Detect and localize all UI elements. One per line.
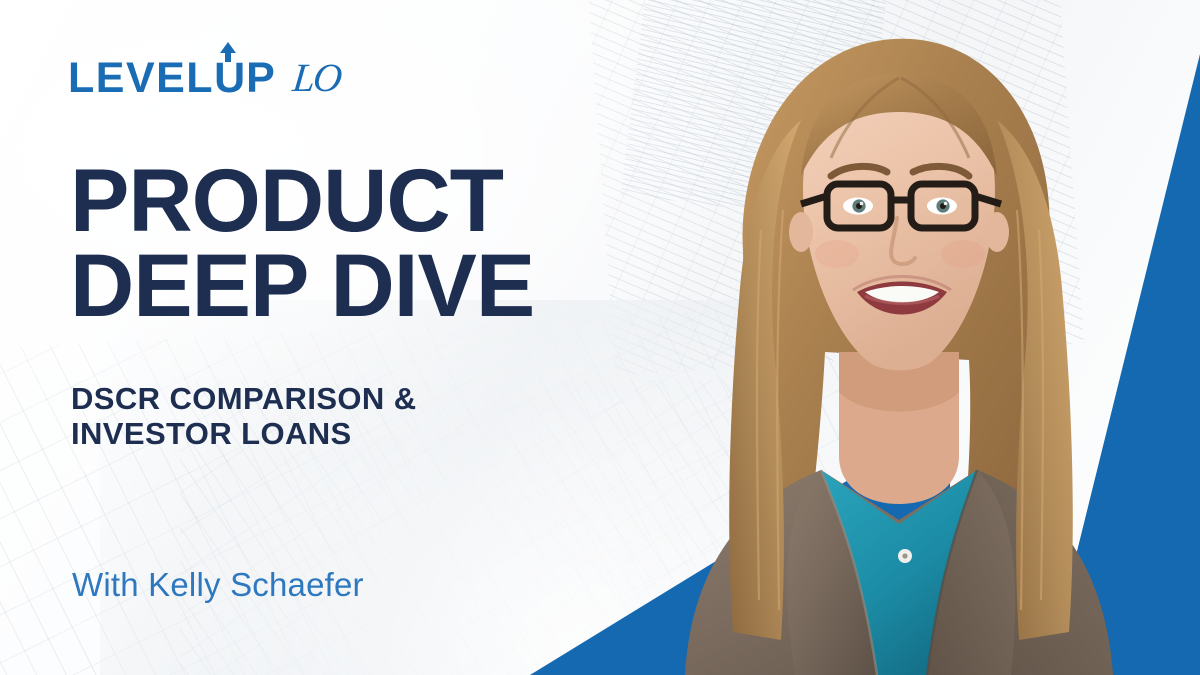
headline-line-2: DEEP DIVE xyxy=(70,243,534,328)
presenter-portrait xyxy=(625,0,1145,675)
presenter-label: With Kelly Schaefer xyxy=(72,566,364,604)
page-title: PRODUCT DEEP DIVE xyxy=(70,158,534,329)
brand-logo[interactable]: LEVEL UP LO xyxy=(68,50,340,106)
subheadline-line-2: INVESTOR LOANS xyxy=(71,417,417,452)
up-arrow-icon xyxy=(218,42,238,62)
title-slide: LEVEL UP LO PRODUCT DEEP DIVE DSCR COMPA… xyxy=(0,0,1200,675)
subheadline-line-1: DSCR COMPARISON & xyxy=(71,381,417,416)
logo-text-level: LEVEL xyxy=(68,57,214,100)
logo-up-group: UP xyxy=(214,57,276,100)
logo-text-lo: LO xyxy=(291,58,342,98)
logo-text-up: UP xyxy=(214,57,276,100)
page-subtitle: DSCR COMPARISON & INVESTOR LOANS xyxy=(71,382,417,451)
